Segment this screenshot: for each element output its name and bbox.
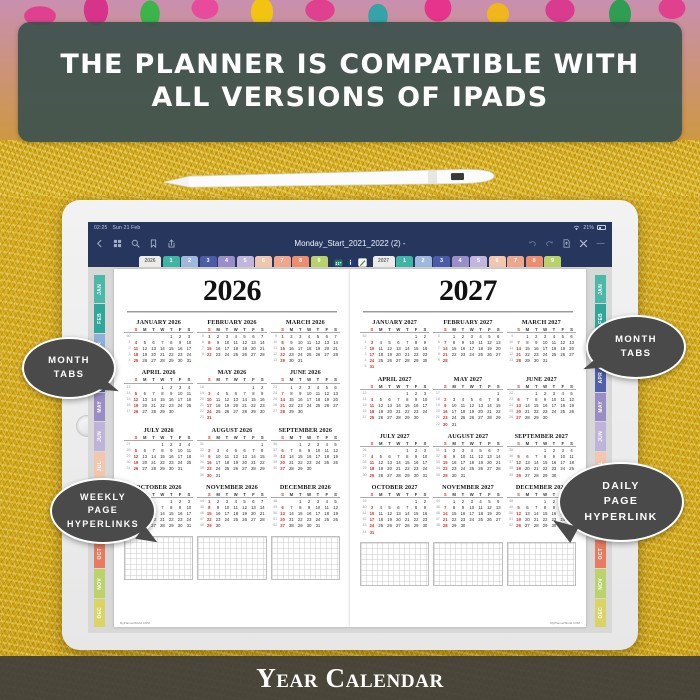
day-cell[interactable]: 27	[278, 466, 287, 472]
ptab-2027-4[interactable]: 4	[452, 256, 469, 267]
callout-line: PAGE	[88, 504, 118, 517]
day-cell[interactable]: 28	[258, 352, 267, 358]
dow-cell: T	[385, 384, 394, 389]
day-cell[interactable]: 29	[403, 415, 412, 421]
day-cell[interactable]: 28	[441, 358, 450, 364]
day-cell[interactable]: 29	[532, 415, 541, 421]
dow-cell: F	[249, 327, 258, 332]
dow-cell: S	[514, 327, 523, 332]
day-cell[interactable]: 28	[158, 523, 167, 529]
day-cell[interactable]: 31	[450, 422, 459, 428]
dow-cell: S	[567, 384, 576, 389]
dow-cell: F	[322, 377, 331, 382]
week-number[interactable]: 39	[507, 473, 515, 479]
mini-month[interactable]: JUNE 2026SMTWTFS231234562478910111213251…	[271, 369, 340, 421]
month-tab-jun-left[interactable]: JUN	[94, 422, 105, 450]
day-cell[interactable]: 26	[240, 352, 249, 358]
dow-cell: F	[485, 384, 494, 389]
mini-month-week-row[interactable]: 822232425262728	[197, 352, 266, 358]
mini-month-rule	[271, 440, 340, 441]
mini-month[interactable]: APRIL 2026SMTWTFS13123414567891011151213…	[124, 369, 193, 421]
callout-line: TABS	[54, 368, 85, 382]
day-cell	[485, 523, 494, 529]
month-tab-jan-right[interactable]: JAN	[595, 275, 606, 303]
dow-cell: T	[385, 441, 394, 446]
mini-month[interactable]: MAY 2027SMTWTFS1711823456781991011121314…	[433, 376, 502, 428]
mini-month-week-row[interactable]: 2331	[197, 415, 266, 421]
day-cell[interactable]: 31	[313, 523, 322, 529]
mini-month-rule	[433, 497, 502, 498]
day-cell[interactable]: 30	[167, 409, 176, 415]
month-tab-nov-left[interactable]: NOV	[94, 569, 105, 597]
mini-month[interactable]: DECEMBER 2026SMTWTFS48123454967891011125…	[271, 484, 340, 530]
mini-month[interactable]: JULY 2027SMTWTFS261232745678910281112131…	[360, 433, 429, 479]
mini-month-week-row[interactable]: 48282930	[433, 523, 502, 529]
mini-month-week-row[interactable]: 425262728293031	[124, 358, 193, 364]
day-cell[interactable]: 29	[541, 473, 550, 479]
ptab-2027-9[interactable]: 9	[544, 256, 561, 267]
dow-cell: W	[394, 384, 403, 389]
day-cell[interactable]: 29	[403, 473, 412, 479]
week-number[interactable]: 30	[360, 473, 368, 479]
mini-month[interactable]: MARCH 2026SMTWTFS91234567108910111213141…	[271, 319, 340, 365]
day-cell[interactable]: 29	[450, 523, 459, 529]
mini-month-week-row[interactable]: 4027282930	[271, 466, 340, 472]
month-tab-dec-right[interactable]: DEC	[595, 599, 606, 627]
day-cell[interactable]: 30	[541, 415, 550, 421]
week-number[interactable]: 31	[124, 466, 132, 472]
week-number[interactable]: 52	[507, 523, 515, 529]
thumbnails-grid-icon[interactable]	[113, 239, 122, 248]
dow-cell: S	[278, 435, 287, 440]
mini-month-week-row[interactable]: 31262728293031	[124, 466, 193, 472]
dow-cell: W	[541, 492, 550, 497]
mini-month-title: FEBRUARY 2026	[197, 319, 266, 326]
day-cell[interactable]: 26	[132, 409, 141, 415]
day-cell[interactable]: 31	[420, 473, 429, 479]
day-cell[interactable]: 31	[541, 358, 550, 364]
day-cell[interactable]: 30	[549, 473, 558, 479]
day-cell[interactable]: 28	[441, 523, 450, 529]
day-cell[interactable]: 28	[149, 466, 158, 472]
day-cell	[494, 422, 503, 428]
day-cell[interactable]: 28	[149, 409, 158, 415]
dow-cell: T	[167, 492, 176, 497]
mini-month-week-row[interactable]: 522728293031	[271, 523, 340, 529]
dow-cell: W	[394, 492, 403, 497]
week-number[interactable]: 27	[271, 409, 279, 415]
day-cell[interactable]: 27	[385, 415, 394, 421]
mini-month[interactable]: FEBRUARY 2027SMTWTFS51234566789101112137…	[433, 319, 502, 371]
day-cell[interactable]: 30	[305, 523, 314, 529]
ptab-2026-9[interactable]: 9	[311, 256, 328, 267]
mini-month[interactable]: NOVEMBER 2026SMTWTFS44123456745891011121…	[197, 484, 266, 530]
week-number[interactable]: 8	[197, 352, 205, 358]
day-cell[interactable]: 25	[368, 415, 377, 421]
day-cell[interactable]: 24	[222, 352, 231, 358]
day-cell[interactable]: 30	[441, 422, 450, 428]
week-number[interactable]: 4	[124, 358, 132, 364]
planner-page-right[interactable]: 2027 JANUARY 2027SMTWTFS5212134567892101…	[350, 269, 586, 627]
week-number[interactable]: 5	[360, 364, 368, 370]
day-cell[interactable]: 30	[458, 523, 467, 529]
day-cell[interactable]: 26	[132, 466, 141, 472]
day-cell	[240, 473, 249, 479]
dow-cell: T	[149, 327, 158, 332]
day-cell[interactable]: 28	[287, 523, 296, 529]
bottom-banner-title: Year Calendar	[256, 663, 444, 694]
day-cell[interactable]: 28	[278, 409, 287, 415]
day-cell[interactable]: 27	[514, 415, 523, 421]
ptab-2026-4[interactable]: 4	[218, 256, 235, 267]
day-cell[interactable]: 28	[532, 473, 541, 479]
mini-month-week-row[interactable]: 4431	[360, 530, 429, 536]
day-cell[interactable]: 31	[214, 473, 223, 479]
week-number[interactable]: 17	[124, 409, 132, 415]
mini-month-week-row[interactable]: 3025262728293031	[360, 473, 429, 479]
dow-cell: T	[403, 384, 412, 389]
notes-grid-box[interactable]	[271, 536, 340, 580]
day-cell	[412, 530, 421, 536]
undo-icon[interactable]	[528, 239, 537, 248]
mini-month-rule	[197, 497, 266, 498]
mini-month[interactable]: APRIL 2027SMTWTFS13123144567891015111213…	[360, 376, 429, 428]
dow-cell: S	[514, 441, 523, 446]
day-cell	[313, 466, 322, 472]
day-cell[interactable]: 30	[167, 466, 176, 472]
day-cell[interactable]: 31	[184, 358, 193, 364]
day-cell[interactable]: 29	[441, 473, 450, 479]
day-cell[interactable]: 26	[514, 523, 523, 529]
day-cell[interactable]: 28	[523, 415, 532, 421]
mini-month[interactable]: JANUARY 2027SMTWTFS521213456789210111213…	[360, 319, 429, 371]
day-cell[interactable]: 28	[394, 473, 403, 479]
day-cell	[385, 530, 394, 536]
day-cell[interactable]: 30	[532, 358, 541, 364]
ptab-2027-7[interactable]: 7	[507, 256, 524, 267]
share-icon[interactable]	[167, 239, 176, 248]
day-cell[interactable]: 29	[296, 523, 305, 529]
mini-month[interactable]: JULY 2026SMTWTFS271234285678910112912131…	[124, 427, 193, 479]
day-cell[interactable]: 31	[176, 466, 185, 472]
dow-cell: T	[532, 441, 541, 446]
day-cell	[184, 409, 193, 415]
pen-icon[interactable]	[358, 258, 367, 267]
ptab-2027-3[interactable]: 3	[433, 256, 450, 267]
dow-cell: S	[184, 327, 193, 332]
day-cell[interactable]: 23	[214, 352, 223, 358]
day-cell[interactable]: 29	[287, 409, 296, 415]
day-cell[interactable]: 28	[158, 358, 167, 364]
mini-month-dow-header: SMTWTFS	[271, 492, 340, 497]
dow-cell: S	[184, 377, 193, 382]
mini-month-week-row[interactable]: 1328293031	[507, 358, 576, 364]
day-cell	[420, 415, 429, 421]
notes-grid-box[interactable]	[507, 542, 576, 586]
dow-cell: S	[331, 377, 340, 382]
notes-grid-box[interactable]	[433, 542, 502, 586]
day-cell[interactable]: 27	[278, 523, 287, 529]
month-tab-may-left[interactable]: MAY	[94, 393, 105, 421]
notes-grid-box[interactable]	[124, 536, 193, 580]
dow-cell: W	[541, 384, 550, 389]
dow-cell: M	[287, 492, 296, 497]
mini-month-week-row[interactable]: 531	[360, 364, 429, 370]
month-tab-label: JAN	[598, 284, 604, 295]
dow-cell: S	[184, 435, 193, 440]
planner-page-left[interactable]: 2026 JANUARY 2026SMTWTFS5012314567891021…	[114, 269, 350, 627]
mini-month-title: JULY 2026	[124, 427, 193, 434]
document-icon[interactable]	[562, 239, 571, 248]
mini-month[interactable]: SEPTEMBER 2027SMTWTFS3512343656789101137…	[507, 433, 576, 479]
month-tab-oct-right[interactable]: OCT	[595, 540, 606, 568]
day-cell	[567, 358, 576, 364]
week-number[interactable]: 35	[433, 473, 441, 479]
close-icon[interactable]	[579, 239, 588, 248]
redo-icon[interactable]	[545, 239, 554, 248]
ptab-2026-8[interactable]: 8	[292, 256, 309, 267]
day-cell	[376, 364, 385, 370]
status-battery-percent: 21%	[583, 225, 594, 231]
week-number[interactable]: 22	[433, 422, 441, 428]
mini-month[interactable]: SEPTEMBER 2026SMTWTFS3612345376789101112…	[271, 427, 340, 479]
day-cell[interactable]: 27	[385, 473, 394, 479]
ptab-2026-3[interactable]: 3	[200, 256, 217, 267]
back-chevron-icon[interactable]	[95, 239, 104, 248]
mini-month[interactable]: NOVEMBER 2027SMTWTFS44123456457891011121…	[433, 484, 502, 536]
week-number[interactable]: 44	[360, 530, 368, 536]
week-number[interactable]: 23	[197, 415, 205, 421]
ptab-2026-7[interactable]: 7	[274, 256, 291, 267]
day-cell	[222, 523, 231, 529]
week-number[interactable]: 48	[433, 523, 441, 529]
search-icon[interactable]	[131, 239, 140, 248]
day-cell[interactable]: 31	[296, 358, 305, 364]
ptab-2026-5[interactable]: 5	[237, 256, 254, 267]
ptab-2027-6[interactable]: 6	[489, 256, 506, 267]
notes-grid-box[interactable]	[197, 536, 266, 580]
mini-month[interactable]: MAY 2026SMTWTFS1812193456789201011121314…	[197, 369, 266, 421]
month-tab-jul-left[interactable]: JUL	[94, 452, 105, 480]
mini-month-rule	[197, 332, 266, 333]
dow-cell: T	[240, 492, 249, 497]
mini-month-week-row[interactable]: 17252627282930	[360, 415, 429, 421]
dow-cell: T	[458, 327, 467, 332]
more-icon[interactable]	[596, 239, 605, 248]
dow-cell: T	[222, 492, 231, 497]
month-tab-may-right[interactable]: MAY	[595, 393, 606, 421]
week-number[interactable]: 36	[197, 473, 205, 479]
dow-cell: F	[249, 435, 258, 440]
dow-cell: T	[549, 327, 558, 332]
month-tab-jan-left[interactable]: JAN	[94, 275, 105, 303]
day-cell[interactable]: 26	[376, 473, 385, 479]
day-cell[interactable]: 30	[176, 523, 185, 529]
day-cell[interactable]: 31	[184, 523, 193, 529]
month-tab-oct-left[interactable]: OCT	[94, 540, 105, 568]
day-cell[interactable]: 29	[278, 358, 287, 364]
day-cell	[420, 530, 429, 536]
dow-cell: S	[514, 492, 523, 497]
week-number[interactable]: 13	[271, 358, 279, 364]
dow-cell: T	[385, 327, 394, 332]
day-cell[interactable]: 27	[140, 466, 149, 472]
day-cell[interactable]: 31	[368, 530, 377, 536]
tabgroup-2027: 2027123456789	[373, 256, 562, 267]
day-cell[interactable]: 30	[305, 466, 314, 472]
mini-month-week-row[interactable]: 482930	[197, 523, 266, 529]
day-cell[interactable]: 31	[205, 415, 214, 421]
day-cell[interactable]: 27	[523, 523, 532, 529]
dow-cell: T	[476, 384, 485, 389]
week-number[interactable]: 9	[433, 358, 441, 364]
month-tab-feb-left[interactable]: FEB	[94, 304, 105, 332]
mini-month-week-row[interactable]: 13293031	[271, 358, 340, 364]
dow-cell: W	[467, 492, 476, 497]
mini-month-week-row[interactable]: 392627282930	[507, 473, 576, 479]
day-cell[interactable]: 28	[394, 415, 403, 421]
dow-cell: F	[176, 435, 185, 440]
mini-month[interactable]: JUNE 2027SMTWTFS221234523678910111224131…	[507, 376, 576, 428]
day-cell[interactable]: 30	[412, 473, 421, 479]
day-cell	[420, 364, 429, 370]
month-tab-label: JUN	[598, 431, 604, 442]
day-cell[interactable]: 27	[149, 358, 158, 364]
dow-cell: W	[467, 384, 476, 389]
dow-cell: W	[305, 327, 314, 332]
mini-month-dow-header: SMTWTFS	[197, 377, 266, 382]
day-cell[interactable]: 25	[231, 352, 240, 358]
mini-month[interactable]: MARCH 2027SMTWTFS91234561078910111213111…	[507, 319, 576, 371]
mini-month-rule	[360, 389, 429, 390]
day-cell[interactable]: 27	[249, 352, 258, 358]
day-cell[interactable]: 29	[523, 358, 532, 364]
day-cell	[485, 473, 494, 479]
dow-cell: M	[376, 327, 385, 332]
mini-month-rule	[507, 389, 576, 390]
day-cell[interactable]: 27	[523, 473, 532, 479]
day-cell[interactable]: 26	[514, 473, 523, 479]
day-cell[interactable]: 28	[514, 358, 523, 364]
ptab-2027-8[interactable]: 8	[526, 256, 543, 267]
mini-month-rule	[507, 446, 576, 447]
week-number[interactable]: 26	[507, 415, 515, 421]
day-cell[interactable]: 26	[376, 415, 385, 421]
day-cell	[305, 409, 314, 415]
ptab-year-2026[interactable]: 2026	[139, 256, 161, 267]
headline-banner: THE PLANNER IS COMPATIBLE WITH ALL VERSI…	[18, 22, 682, 142]
ptab-2027-5[interactable]: 5	[470, 256, 487, 267]
week-number[interactable]: 52	[271, 523, 279, 529]
day-cell[interactable]: 29	[296, 466, 305, 472]
month-tab-jun-right[interactable]: JUN	[595, 422, 606, 450]
dow-cell: T	[296, 492, 305, 497]
dow-cell: S	[258, 327, 267, 332]
mini-month-week-row[interactable]: 363031	[197, 473, 266, 479]
day-cell[interactable]: 25	[368, 473, 377, 479]
ptab-year-2027[interactable]: 2027	[373, 256, 395, 267]
week-number[interactable]: 13	[507, 358, 515, 364]
day-cell[interactable]: 22	[205, 352, 214, 358]
dow-cell: T	[222, 327, 231, 332]
day-cell[interactable]: 31	[368, 364, 377, 370]
day-cell[interactable]: 30	[205, 473, 214, 479]
ptab-2026-6[interactable]: 6	[255, 256, 272, 267]
ptab-2027-1[interactable]: 1	[396, 256, 413, 267]
week-number[interactable]: 40	[271, 466, 279, 472]
day-cell[interactable]: 29	[167, 523, 176, 529]
mini-month-week-row[interactable]: 172627282930	[124, 409, 193, 415]
day-cell[interactable]: 27	[140, 409, 149, 415]
mini-month-rule	[433, 446, 502, 447]
ptab-2026-2[interactable]: 2	[181, 256, 198, 267]
day-cell[interactable]: 25	[132, 358, 141, 364]
mini-month-week-row[interactable]: 223031	[433, 422, 502, 428]
day-cell[interactable]: 28	[287, 466, 296, 472]
mini-month-title: FEBRUARY 2027	[433, 319, 502, 326]
notes-grid-box[interactable]	[360, 542, 429, 586]
ptab-2027-2[interactable]: 2	[415, 256, 432, 267]
dow-cell: T	[532, 327, 541, 332]
week-number[interactable]: 48	[197, 523, 205, 529]
dow-cell: W	[231, 435, 240, 440]
mini-month-week-row[interactable]: 35293031	[433, 473, 502, 479]
mini-month[interactable]: OCTOBER 2027SMTWTFS391240345678941101112…	[360, 484, 429, 536]
dow-cell: M	[523, 492, 532, 497]
week-number[interactable]: 17	[360, 415, 368, 421]
day-cell[interactable]: 30	[296, 409, 305, 415]
day-cell[interactable]: 29	[158, 466, 167, 472]
day-cell[interactable]: 30	[450, 473, 459, 479]
day-cell	[458, 358, 467, 364]
day-cell[interactable]: 28	[532, 523, 541, 529]
mini-month-week-row[interactable]: 2627282930	[507, 415, 576, 421]
dow-cell: T	[549, 441, 558, 446]
mini-month-week-row[interactable]: 27282930	[271, 409, 340, 415]
mini-month[interactable]: AUGUST 2027SMTWTFS3112345673289101112131…	[433, 433, 502, 479]
mini-month-week-row[interactable]: 928	[433, 358, 502, 364]
dow-cell: S	[441, 492, 450, 497]
calendar-icon[interactable]	[334, 258, 343, 267]
mini-month-title: MARCH 2027	[507, 319, 576, 326]
day-cell	[485, 358, 494, 364]
day-cell[interactable]: 30	[412, 415, 421, 421]
day-cell[interactable]: 29	[205, 523, 214, 529]
day-cell	[231, 523, 240, 529]
day-cell[interactable]: 29	[167, 358, 176, 364]
month-tab-dec-left[interactable]: DEC	[94, 599, 105, 627]
page-year-title-left: 2026	[121, 275, 343, 307]
day-cell[interactable]: 30	[214, 523, 223, 529]
ptab-2026-1[interactable]: 1	[163, 256, 180, 267]
mini-month[interactable]: JANUARY 2026SMTWTFS501231456789102111213…	[124, 319, 193, 365]
mini-month-rule	[197, 383, 266, 384]
dow-cell: W	[231, 377, 240, 382]
dow-cell: F	[322, 435, 331, 440]
day-cell[interactable]: 30	[287, 358, 296, 364]
month-tab-label: OCT	[598, 548, 604, 559]
mini-month[interactable]: AUGUST 2026SMTWTFS3113223456783391011121…	[197, 427, 266, 479]
day-cell[interactable]: 31	[458, 473, 467, 479]
day-cell[interactable]: 29	[158, 409, 167, 415]
mini-month[interactable]: FEBRUARY 2026SMTWTFS51234567689101112131…	[197, 319, 266, 365]
day-cell[interactable]: 26	[140, 358, 149, 364]
month-tab-nov-right[interactable]: NOV	[595, 569, 606, 597]
bookmark-icon[interactable]	[149, 239, 158, 248]
day-cell[interactable]: 30	[176, 358, 185, 364]
mini-month-title: MAY 2027	[433, 376, 502, 383]
info-icon[interactable]	[346, 258, 355, 267]
